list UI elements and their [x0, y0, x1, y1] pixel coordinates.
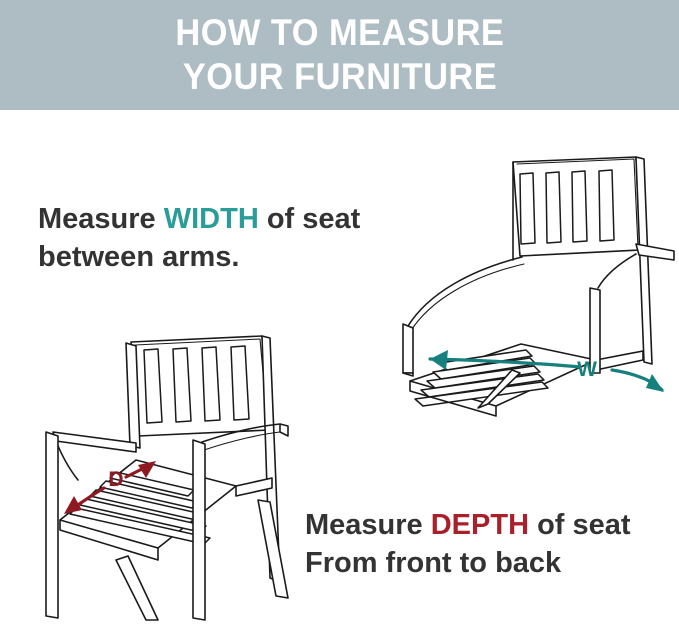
chair-rear-post-right [636, 157, 652, 364]
chair-armrest-left [53, 432, 136, 452]
header-title-line-2: YOUR FURNITURE [182, 55, 496, 99]
chair-armrest-right-support [598, 254, 636, 288]
chair-leg-rear-right [258, 500, 288, 598]
patio-chair-depth-illustration: D [18, 320, 308, 620]
patio-chair-width-illustration: W [400, 138, 679, 373]
width-arrow-head-right [646, 374, 664, 392]
header-banner: HOW TO MEASURE YOUR FURNITURE [0, 0, 679, 110]
width-instruction-line-2: between arms. [38, 238, 360, 276]
width-keyword: WIDTH [164, 203, 259, 235]
depth-dimension-label: D [108, 468, 123, 491]
chair-front-post-middle [193, 440, 205, 620]
depth-keyword: DEPTH [431, 509, 529, 541]
width-text-suffix: of seat [259, 203, 361, 235]
width-dimension-label: W [577, 358, 597, 381]
chair-armrest-left-top [408, 257, 522, 326]
depth-instruction-line-2: From front to back [305, 544, 631, 582]
depth-text-prefix: Measure [305, 509, 431, 541]
width-text-prefix: Measure [38, 203, 164, 235]
width-instruction-line-1: Measure WIDTH of seat [38, 200, 360, 238]
chair-armrest-right-cap [280, 424, 288, 436]
chair-side-stretcher-right [596, 351, 643, 370]
chair-leg-rear-diagonal [116, 556, 158, 620]
chair-front-post-left [403, 324, 413, 373]
chair-armrest-left-bottom [410, 264, 524, 332]
depth-instruction-text: Measure DEPTH of seat From front to back [305, 506, 631, 582]
chair-front-post-left [46, 432, 58, 618]
header-title-line-1: HOW TO MEASURE [175, 11, 504, 55]
width-instruction-text: Measure WIDTH of seat between arms. [38, 200, 360, 276]
width-arrow-head-left [430, 350, 448, 370]
depth-text-suffix: of seat [529, 509, 631, 541]
depth-instruction-line-1: Measure DEPTH of seat [305, 506, 631, 544]
chair-armrest-left-support [56, 441, 78, 480]
chair-leg-front-left-top [403, 373, 413, 376]
